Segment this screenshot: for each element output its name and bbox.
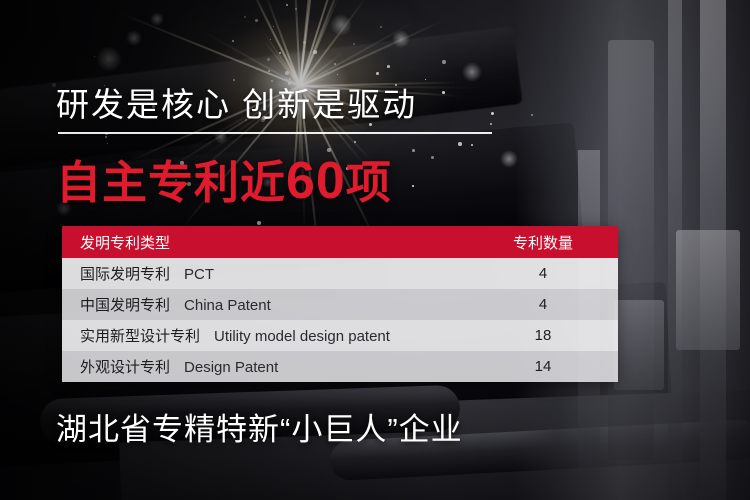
type-en: Utility model design patent: [214, 328, 390, 345]
subtitle-number: 60: [286, 152, 346, 210]
poster-content: 研发是核心 创新是驱动 自主专利近60项 发明专利类型 专利数量 国际发明专利P…: [0, 0, 750, 500]
page-title: 研发是核心 创新是驱动: [56, 78, 417, 126]
table-header-type: 发明专利类型: [62, 232, 468, 253]
table-cell-count: 14: [468, 358, 618, 375]
type-cn: 外观设计专利: [80, 359, 170, 376]
poster: 研发是核心 创新是驱动 自主专利近60项 发明专利类型 专利数量 国际发明专利P…: [0, 0, 750, 500]
title-divider: [58, 132, 492, 134]
table-row: 中国发明专利China Patent 4: [62, 289, 618, 320]
footer-caption: 湖北省专精特新“小巨人”企业: [56, 404, 463, 449]
type-en: Design Patent: [184, 359, 278, 376]
table-cell-type: 实用新型设计专利Utility model design patent: [62, 325, 468, 346]
type-cn: 国际发明专利: [80, 266, 170, 283]
table-row: 国际发明专利PCT 4: [62, 258, 618, 289]
subtitle-suffix: 项: [346, 157, 392, 208]
table-cell-type: 外观设计专利Design Patent: [62, 356, 468, 377]
table-cell-type: 国际发明专利PCT: [62, 263, 468, 284]
table-cell-type: 中国发明专利China Patent: [62, 294, 468, 315]
type-en: China Patent: [184, 297, 271, 314]
table-cell-count: 18: [468, 327, 618, 344]
table-row: 外观设计专利Design Patent 14: [62, 351, 618, 382]
table-header-count: 专利数量: [468, 232, 618, 253]
type-cn: 实用新型设计专利: [80, 328, 200, 345]
table-cell-count: 4: [468, 265, 618, 282]
patent-table: 发明专利类型 专利数量 国际发明专利PCT 4 中国发明专利China Pate…: [62, 226, 618, 382]
subtitle-prefix: 自主专利近: [56, 157, 286, 208]
type-en: PCT: [184, 266, 214, 283]
table-cell-count: 4: [468, 296, 618, 313]
table-header-row: 发明专利类型 专利数量: [62, 226, 618, 258]
table-row: 实用新型设计专利Utility model design patent 18: [62, 320, 618, 351]
subtitle: 自主专利近60项: [56, 146, 392, 211]
type-cn: 中国发明专利: [80, 297, 170, 314]
